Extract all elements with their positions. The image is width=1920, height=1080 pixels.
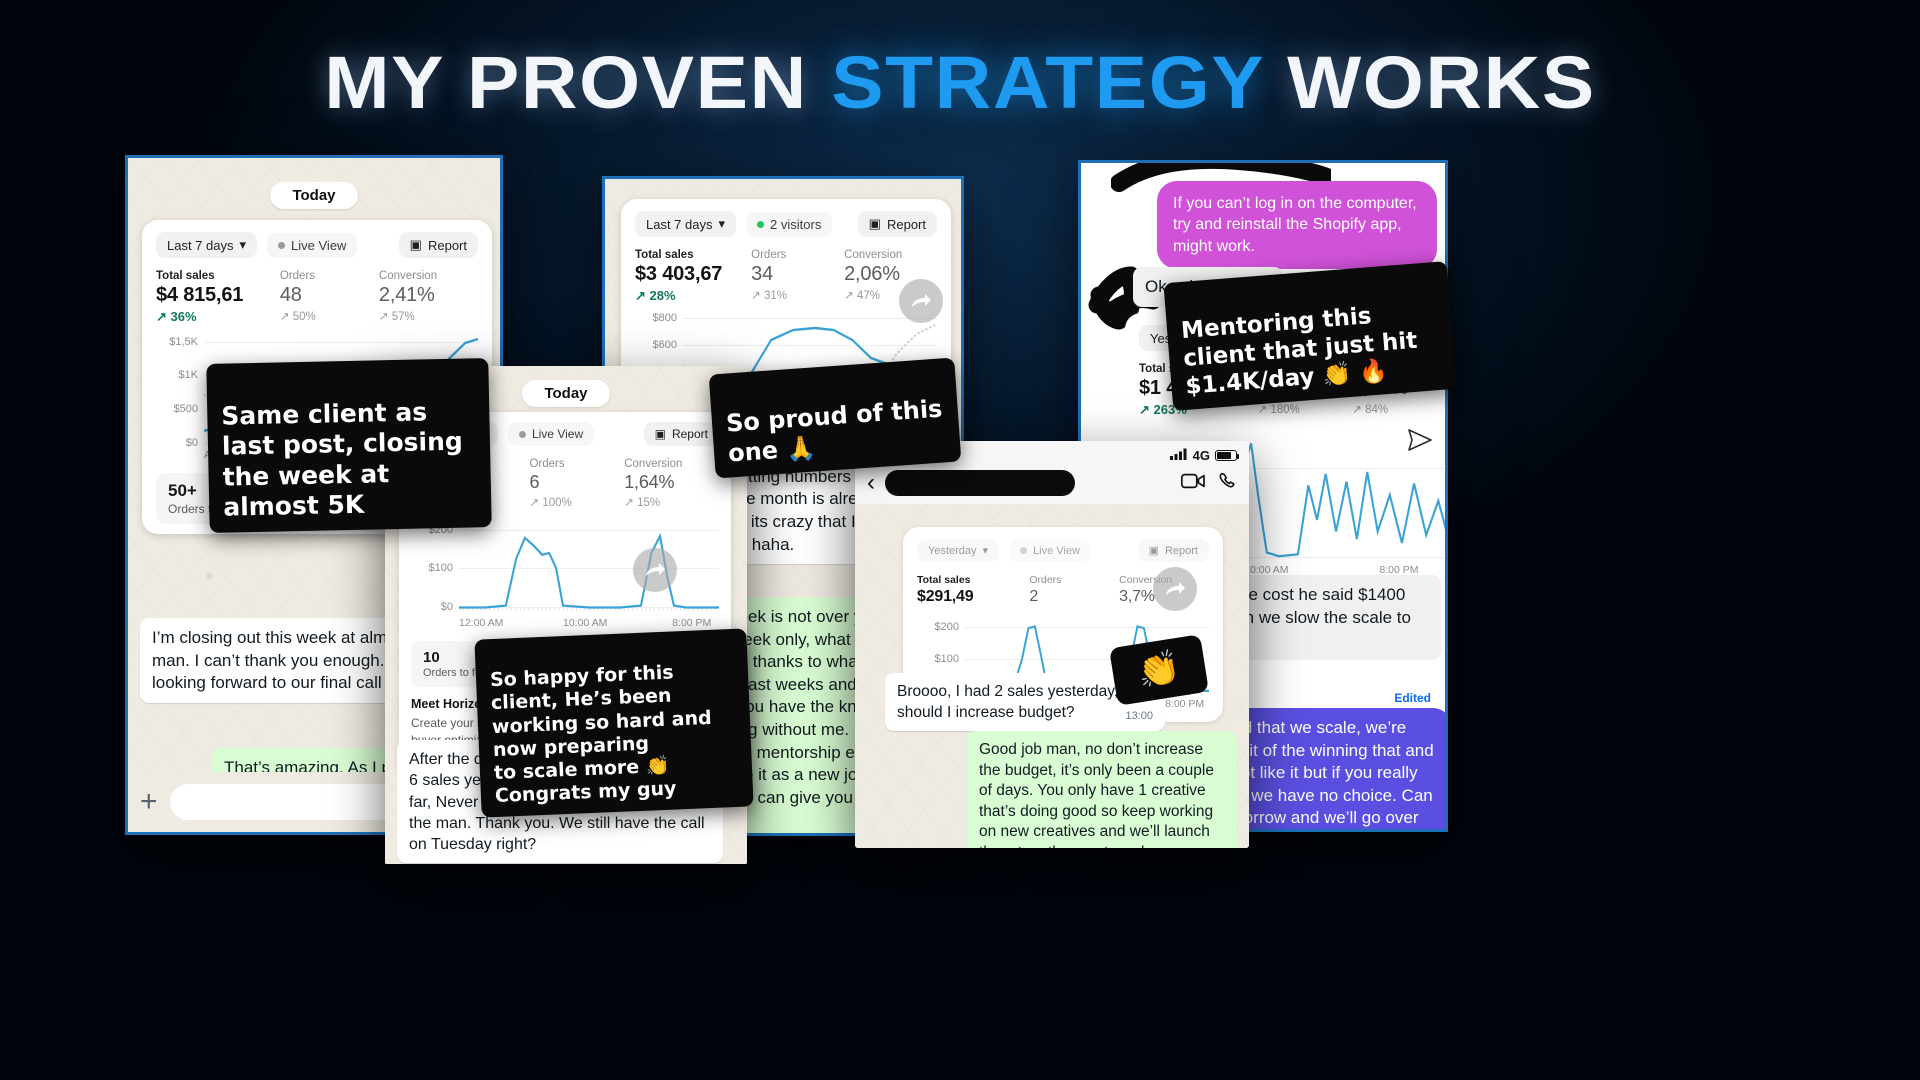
metric-delta: ↗ 100% bbox=[529, 495, 624, 509]
metric-label: Conversion bbox=[844, 249, 937, 261]
y-tick: $0 bbox=[186, 437, 198, 449]
message-text: If you can’t log in on the computer, try… bbox=[1173, 195, 1417, 255]
report-label: Report bbox=[887, 217, 926, 232]
attach-plus-icon[interactable]: + bbox=[140, 787, 158, 817]
outgoing-message-5: Good job man, no don’t increase the budg… bbox=[967, 731, 1237, 848]
date-range-selector[interactable]: Last 7 days ▾ bbox=[156, 232, 257, 258]
forward-button-5[interactable] bbox=[1153, 567, 1197, 611]
status-dot-icon bbox=[1020, 547, 1027, 554]
metric-value: $3 403,67 bbox=[635, 263, 751, 286]
redacted-contact-name bbox=[885, 470, 1075, 496]
poster-canvas: MY PROVEN STRATEGY WORKS Today Last 7 da… bbox=[0, 0, 1920, 1080]
x-tick: 12:00 AM bbox=[459, 617, 503, 629]
metric-label: Total sales bbox=[917, 574, 1029, 586]
sticker-text: Same client as last post, closing the we… bbox=[221, 397, 463, 522]
phone-call-icon[interactable] bbox=[1219, 472, 1237, 495]
sticker-caption-2: So proud of this one 🙏 bbox=[709, 358, 962, 479]
x-tick: 8:00 PM bbox=[672, 617, 711, 629]
date-range-label: Last 7 days bbox=[167, 238, 234, 253]
sticker-text: So happy for this client, He’s been work… bbox=[490, 662, 712, 807]
metric-value: 6 bbox=[529, 472, 624, 493]
metric-label: Orders bbox=[1029, 574, 1119, 586]
status-dot-icon bbox=[757, 221, 764, 228]
live-view-label: Live View bbox=[291, 238, 346, 253]
message-text: Broooo, I had 2 sales yesterday, should … bbox=[897, 683, 1118, 721]
metrics-row: Total sales $3 403,67 ↗ 28% Orders 34 ↗ … bbox=[635, 249, 937, 304]
metrics-row: Total sales $4 815,61 ↗ 36% Orders 48 ↗ … bbox=[156, 270, 478, 325]
y-tick: $200 bbox=[935, 621, 959, 633]
chevron-down-icon: ▾ bbox=[240, 237, 247, 253]
y-tick: $500 bbox=[174, 403, 198, 415]
message-timestamp: 13:00 bbox=[1125, 709, 1153, 724]
back-chevron-icon[interactable]: ‹ bbox=[867, 471, 875, 495]
sticker-caption-3: Mentoring this client that just hit $1.4… bbox=[1163, 261, 1456, 411]
metric-total-sales: Total sales $4 815,61 ↗ 36% bbox=[156, 270, 280, 325]
report-button[interactable]: ▣ Report bbox=[858, 211, 937, 237]
sticker-caption-1: Same client as last post, closing the we… bbox=[206, 358, 491, 532]
headline-part2: WORKS bbox=[1264, 41, 1596, 124]
metric-value: $291,49 bbox=[917, 588, 1029, 606]
y-tick: $1,5K bbox=[169, 336, 198, 348]
metric-orders: Orders 34 ↗ 31% bbox=[751, 249, 844, 304]
report-icon: ▣ bbox=[869, 216, 881, 232]
metric-conversion: Conversion 2,41% ↗ 57% bbox=[379, 270, 478, 325]
live-view-chip[interactable]: Live View bbox=[1009, 540, 1091, 562]
send-icon-3[interactable] bbox=[1407, 427, 1433, 458]
chart-y-axis: $200 $100 $0 bbox=[411, 521, 457, 615]
visitors-chip[interactable]: 2 visitors bbox=[746, 212, 832, 237]
metric-label: Total sales bbox=[156, 270, 280, 282]
video-call-icon[interactable] bbox=[1181, 473, 1205, 494]
visitors-label: 2 visitors bbox=[770, 217, 821, 232]
metric-value: $4 815,61 bbox=[156, 284, 280, 307]
metric-delta: ↗ 180% bbox=[1257, 402, 1352, 416]
metric-delta: ↗ 31% bbox=[751, 288, 844, 302]
metric-value: 34 bbox=[751, 263, 844, 286]
network-label: 4G bbox=[1193, 448, 1210, 463]
date-divider-today-4: Today bbox=[522, 380, 609, 407]
metric-delta: ↗ 50% bbox=[280, 309, 379, 323]
report-label: Report bbox=[428, 238, 467, 253]
metric-orders: Orders 6 ↗ 100% bbox=[529, 458, 624, 511]
metric-total-sales: Total sales $291,49 bbox=[917, 574, 1029, 606]
x-tick: 8:00 PM bbox=[1165, 698, 1204, 710]
metric-label: Orders bbox=[280, 270, 379, 282]
report-label: Report bbox=[1165, 545, 1198, 557]
metric-label: Orders bbox=[751, 249, 844, 261]
battery-icon bbox=[1215, 450, 1237, 461]
y-tick: $600 bbox=[653, 339, 677, 351]
sales-line bbox=[459, 536, 719, 607]
status-dot-icon bbox=[519, 431, 526, 438]
metric-label: Conversion bbox=[624, 458, 719, 470]
metric-delta: ↗ 28% bbox=[635, 288, 751, 304]
metric-delta: ↗ 57% bbox=[379, 309, 478, 323]
report-button[interactable]: ▣ Report bbox=[399, 232, 478, 258]
metric-label: Total sales bbox=[635, 249, 751, 261]
forward-button-2[interactable] bbox=[899, 279, 943, 323]
metric-label: Orders bbox=[529, 458, 624, 470]
metric-orders: Orders 2 bbox=[1029, 574, 1119, 606]
headline-part1: MY PROVEN bbox=[324, 41, 831, 124]
report-label: Report bbox=[672, 427, 708, 441]
page-title: MY PROVEN STRATEGY WORKS bbox=[0, 46, 1920, 120]
report-button[interactable]: ▣ Report bbox=[644, 422, 719, 446]
metric-value: 48 bbox=[280, 284, 379, 307]
metric-delta: ↗ 84% bbox=[1352, 402, 1447, 416]
y-tick: $100 bbox=[935, 653, 959, 665]
message-text: Good job man, no don’t increase the budg… bbox=[979, 741, 1214, 848]
chart-gridlines bbox=[459, 521, 719, 615]
y-tick: $0 bbox=[441, 601, 453, 613]
live-view-chip[interactable]: Live View bbox=[267, 233, 357, 258]
y-tick: $1K bbox=[178, 369, 198, 381]
report-icon: ▣ bbox=[1149, 544, 1159, 557]
headline-highlight: STRATEGY bbox=[831, 41, 1264, 124]
report-icon: ▣ bbox=[410, 237, 422, 253]
chevron-down-icon: ▾ bbox=[719, 216, 726, 232]
live-view-label: Live View bbox=[532, 427, 583, 441]
date-range-label: Last 7 days bbox=[646, 217, 713, 232]
status-dot-icon bbox=[278, 242, 285, 249]
date-range-selector[interactable]: Yesterday ▾ bbox=[917, 539, 999, 562]
y-tick: $100 bbox=[429, 562, 453, 574]
chart-x-axis: 12:00 AM 10:00 AM 8:00 PM bbox=[459, 617, 719, 631]
date-range-label: Yesterday bbox=[928, 545, 977, 557]
sticker-text: So proud of this one 🙏 bbox=[725, 395, 943, 467]
metric-value: 2,41% bbox=[379, 284, 478, 307]
metric-total-sales: Total sales $3 403,67 ↗ 28% bbox=[635, 249, 751, 304]
metric-label: Conversion bbox=[379, 270, 478, 282]
x-tick: 10:00 AM bbox=[563, 617, 607, 629]
forward-button-4[interactable] bbox=[633, 548, 677, 592]
live-view-chip[interactable]: Live View bbox=[508, 422, 594, 446]
sticker-caption-4: So happy for this client, He’s been work… bbox=[474, 628, 753, 817]
outgoing-purple-message-3: If you can’t log in on the computer, try… bbox=[1157, 181, 1437, 269]
live-view-label: Live View bbox=[1033, 545, 1080, 557]
sticker-text: Mentoring this client that just hit $1.4… bbox=[1180, 303, 1418, 400]
metric-orders: Orders 48 ↗ 50% bbox=[280, 270, 379, 325]
report-icon: ▣ bbox=[655, 427, 666, 441]
chevron-down-icon: ▾ bbox=[983, 544, 989, 557]
nav-bar-5: ‹ bbox=[867, 470, 1237, 496]
y-tick: $800 bbox=[653, 312, 677, 324]
date-divider-today: Today bbox=[270, 182, 357, 209]
metric-value: 2 bbox=[1029, 588, 1119, 606]
chart-y-axis: $1,5K $1K $500 $0 bbox=[156, 335, 202, 447]
report-button[interactable]: ▣ Report bbox=[1138, 539, 1209, 562]
metric-delta: ↗ 36% bbox=[156, 309, 280, 325]
edited-label-3: Edited bbox=[1394, 691, 1431, 705]
metric-value: 1,64% bbox=[624, 472, 719, 493]
metric-conversion: Conversion 1,64% ↗ 15% bbox=[624, 458, 719, 511]
screenshot-panel-5: 13:32 4G 60 ‹ bbox=[855, 441, 1249, 848]
date-range-selector[interactable]: Last 7 days ▾ bbox=[635, 211, 736, 237]
clap-emoji: 👏 bbox=[1135, 647, 1183, 693]
metric-delta: ↗ 15% bbox=[624, 495, 719, 509]
